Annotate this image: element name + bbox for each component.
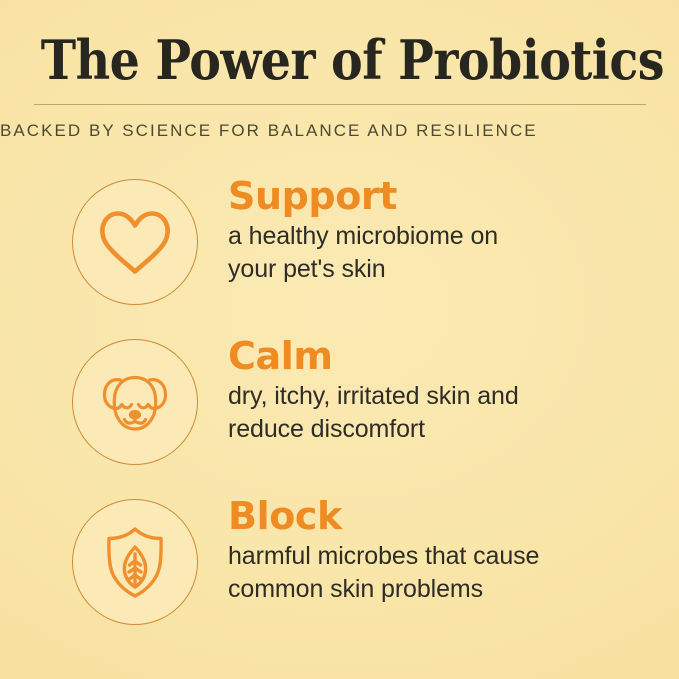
page-subtitle: BACKED BY SCIENCE FOR BALANCE AND RESILI… [0,120,679,142]
dog-icon-badge [72,339,198,465]
feature-body-line: reduce discomfort [228,413,658,446]
feature-body-line: harmful microbes that cause [228,540,658,573]
feature-heading-calm: Calm [228,332,658,380]
feature-heading-block: Block [228,492,658,540]
feature-body-calm: dry, itchy, irritated skin and reduce di… [228,380,658,446]
feature-body-line: your pet's skin [228,253,658,286]
feature-text-support: Support a healthy microbiome on your pet… [228,172,658,286]
probiotics-benefits-poster: The Power of Probiotics BACKED BY SCIENC… [0,0,679,679]
feature-item-block: Block harmful microbes that cause common… [0,492,679,652]
feature-text-block: Block harmful microbes that cause common… [228,492,658,606]
feature-text-calm: Calm dry, itchy, irritated skin and redu… [228,332,658,446]
feature-body-line: dry, itchy, irritated skin and [228,380,658,413]
poster-header: The Power of Probiotics [0,0,679,90]
feature-list: Support a healthy microbiome on your pet… [0,172,679,652]
feature-heading-support: Support [228,172,658,220]
feature-item-support: Support a healthy microbiome on your pet… [0,172,679,332]
feature-body-block: harmful microbes that cause common skin … [228,540,658,606]
header-divider [34,104,646,105]
feature-body-line: common skin problems [228,573,658,606]
shield-icon-badge [72,499,198,625]
feature-item-calm: Calm dry, itchy, irritated skin and redu… [0,332,679,492]
feature-body-line: a healthy microbiome on [228,220,658,253]
page-title: The Power of Probiotics [41,0,639,90]
feature-body-support: a healthy microbiome on your pet's skin [228,220,658,286]
heart-icon-badge [72,179,198,305]
